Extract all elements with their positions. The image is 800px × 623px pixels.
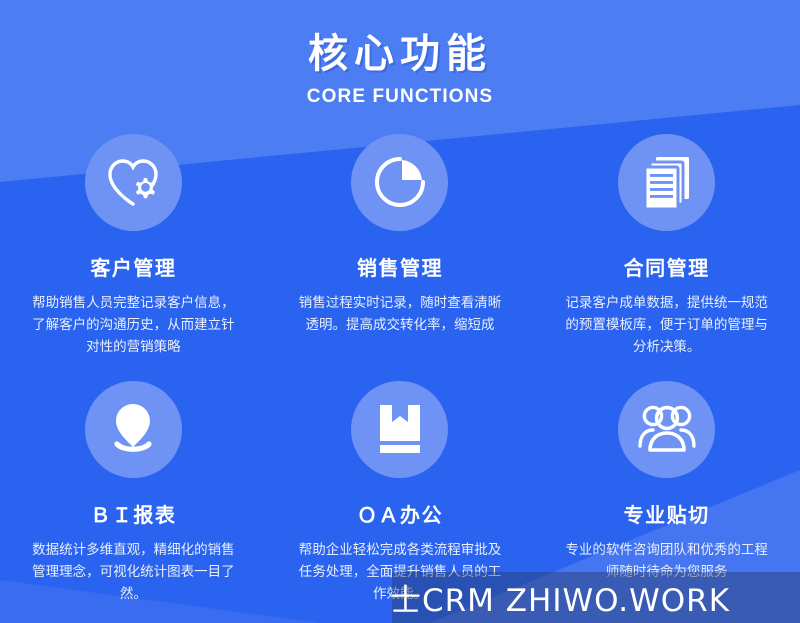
page-content: 核心功能 CORE FUNCTIONS 客户管理 帮助销售人员完整记录客户信息，…	[0, 0, 800, 623]
card-description: 记录客户成单数据，提供统一规范的预置模板库，便于订单的管理与分析决策。	[559, 293, 774, 359]
watermark-text: 奇之士CRM ZHIWO.WORK	[392, 575, 730, 620]
icon-badge	[85, 381, 182, 478]
pie-chart-icon	[372, 154, 428, 210]
card-title: 客户管理	[90, 252, 176, 281]
documents-stack-icon	[639, 153, 695, 211]
icon-badge	[351, 134, 448, 231]
page-title: 核心功能	[0, 30, 800, 79]
card-description: 帮助销售人员完整记录客户信息，了解客户的沟通历史，从而建立针对性的营销策略	[26, 293, 241, 359]
card-description: 销售过程实时记录，随时查看清晰透明。提高成交转化率，缩短成	[292, 293, 507, 337]
card-title: ＯＡ办公	[357, 499, 443, 528]
feature-card-customer-management[interactable]: 客户管理 帮助销售人员完整记录客户信息，了解客户的沟通历史，从而建立针对性的营销…	[0, 134, 267, 381]
feature-grid: 客户管理 帮助销售人员完整记录客户信息，了解客户的沟通历史，从而建立针对性的营销…	[0, 134, 800, 623]
location-pin-icon	[107, 400, 159, 458]
feature-card-contract-management[interactable]: 合同管理 记录客户成单数据，提供统一规范的预置模板库，便于订单的管理与分析决策。	[533, 134, 800, 381]
card-title: ＢＩ报表	[90, 499, 176, 528]
card-title: 专业贴切	[624, 499, 710, 528]
card-title: 合同管理	[624, 252, 710, 281]
feature-card-bi-report[interactable]: ＢＩ报表 数据统计多维直观，精细化的销售管理理念，可视化统计图表一目了然。	[0, 381, 267, 623]
icon-badge	[85, 134, 182, 231]
book-bookmark-icon	[374, 401, 426, 457]
icon-badge	[618, 381, 715, 478]
watermark-overlay: 奇之士CRM ZHIWO.WORK	[392, 572, 800, 623]
page-subtitle: CORE FUNCTIONS	[0, 86, 800, 108]
heart-gear-icon	[104, 155, 162, 209]
card-title: 销售管理	[357, 252, 443, 281]
card-description: 数据统计多维直观，精细化的销售管理理念，可视化统计图表一目了然。	[26, 540, 241, 606]
people-group-icon	[637, 402, 697, 456]
page-header: 核心功能 CORE FUNCTIONS	[0, 0, 800, 108]
icon-badge	[618, 134, 715, 231]
icon-badge	[351, 381, 448, 478]
feature-card-sales-management[interactable]: 销售管理 销售过程实时记录，随时查看清晰透明。提高成交转化率，缩短成	[267, 134, 534, 381]
